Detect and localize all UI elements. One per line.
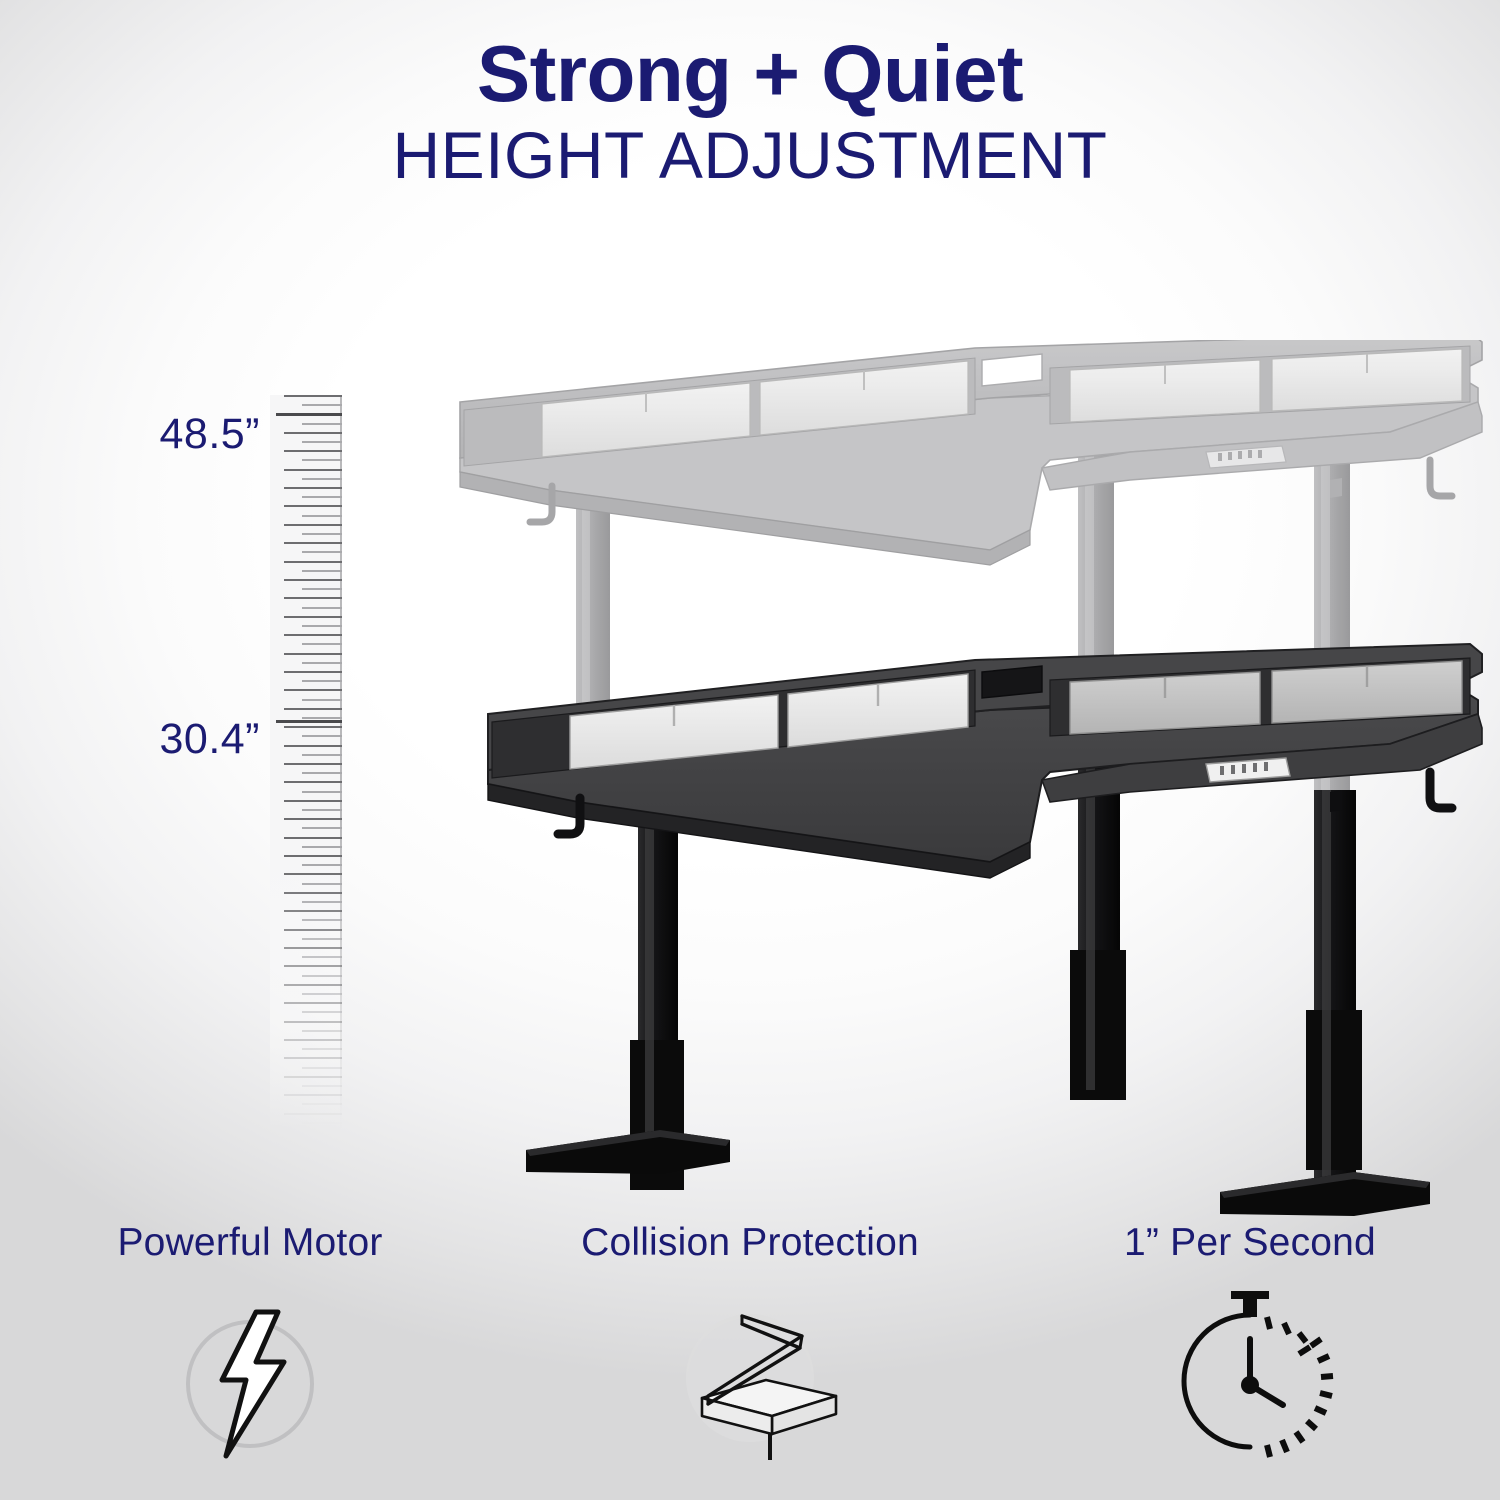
ruler-tick: [302, 570, 342, 572]
page-title: Strong + Quiet: [0, 32, 1500, 115]
feature-speed: 1” Per Second: [1000, 1222, 1500, 1477]
ruler-tick: [302, 515, 342, 517]
ruler-tick: [284, 818, 342, 820]
height-ruler: [270, 395, 342, 1130]
lightning-bolt-icon: [0, 1287, 500, 1477]
measurement-panel: 48.5” 30.4”: [100, 395, 370, 1155]
max-height-label: 48.5”: [100, 410, 260, 459]
ruler-tick: [284, 542, 342, 544]
ruler-tick: [284, 597, 342, 599]
ruler-tick: [302, 699, 342, 701]
ruler-tick: [284, 855, 342, 857]
ruler-tick: [284, 653, 342, 655]
corner-cutout-lowered: [982, 666, 1042, 698]
ruler-tick: [302, 1030, 342, 1032]
desk-lowered-solid: [488, 644, 1482, 1216]
ruler-tick: [302, 441, 342, 443]
ruler-tick: [302, 643, 342, 645]
ruler-tick: [302, 956, 342, 958]
headphone-hook-lowered-right: [1430, 772, 1452, 808]
ruler-tick: [302, 717, 342, 719]
feature-row: Powerful Motor Collision Protection: [0, 1222, 1500, 1477]
ruler-tick: [302, 883, 342, 885]
ruler-tick: [284, 1113, 342, 1115]
ruler-mark-min: [276, 720, 342, 723]
t-foot-base-right: [1220, 1172, 1430, 1216]
ruler-tick: [284, 689, 342, 691]
min-height-label: 30.4”: [100, 715, 260, 764]
ruler-tick: [284, 1094, 342, 1096]
ruler-tick: [302, 1103, 342, 1105]
ruler-tick: [302, 533, 342, 535]
collision-desktop-icon: [500, 1287, 1000, 1477]
t-foot-base-left: [526, 1130, 730, 1174]
feature-label-speed: 1” Per Second: [1000, 1222, 1500, 1265]
ruler-tick: [284, 745, 342, 747]
ruler-tick: [302, 827, 342, 829]
ruler-tick: [284, 837, 342, 839]
ruler-tick: [284, 708, 342, 710]
ruler-tick: [302, 551, 342, 553]
ruler-tick: [284, 800, 342, 802]
feature-powerful-motor: Powerful Motor: [0, 1222, 500, 1477]
ruler-tick: [284, 524, 342, 526]
ruler-tick: [284, 1002, 342, 1004]
ruler-tick: [284, 450, 342, 452]
ruler-tick: [302, 1085, 342, 1087]
ruler-tick: [302, 588, 342, 590]
ruler-tick: [302, 975, 342, 977]
ruler-tick: [302, 772, 342, 774]
page-subtitle: HEIGHT ADJUSTMENT: [0, 119, 1500, 193]
ruler-tick: [284, 561, 342, 563]
ruler-tick: [284, 395, 342, 397]
ruler-tick: [284, 432, 342, 434]
header: Strong + Quiet HEIGHT ADJUSTMENT: [0, 32, 1500, 193]
ruler-tick: [284, 469, 342, 471]
ruler-tick: [284, 1021, 342, 1023]
ruler-tick: [284, 947, 342, 949]
ruler-tick: [284, 781, 342, 783]
ruler-tick: [284, 873, 342, 875]
ruler-tick: [284, 671, 342, 673]
feature-label-collision-protection: Collision Protection: [500, 1222, 1000, 1265]
headphone-hook-raised-right: [1430, 460, 1452, 496]
ruler-tick: [284, 726, 342, 728]
ruler-mark-max: [276, 413, 342, 416]
ruler-tick: [284, 616, 342, 618]
ruler-tick: [302, 1048, 342, 1050]
stopwatch-icon: [1000, 1287, 1500, 1477]
feature-collision-protection: Collision Protection: [500, 1222, 1000, 1477]
ruler-tick: [302, 625, 342, 627]
ruler-tick: [302, 607, 342, 609]
ruler-tick: [302, 901, 342, 903]
ruler-tick: [284, 892, 342, 894]
ruler-tick: [302, 1067, 342, 1069]
ruler-tick: [302, 735, 342, 737]
ruler-tick: [302, 809, 342, 811]
ruler-tick: [302, 459, 342, 461]
ruler-tick: [284, 965, 342, 967]
ruler-tick: [302, 1122, 342, 1124]
ruler-tick: [302, 1011, 342, 1013]
ruler-tick: [302, 993, 342, 995]
ruler-tick: [284, 505, 342, 507]
ruler-tick: [302, 680, 342, 682]
telescoping-column-right: [1306, 790, 1362, 1180]
ruler-tick: [302, 864, 342, 866]
ruler-tick: [284, 1039, 342, 1041]
ruler-tick: [302, 423, 342, 425]
ruler-tick: [302, 754, 342, 756]
ruler-tick: [302, 919, 342, 921]
ruler-tick: [284, 579, 342, 581]
ruler-tick: [302, 404, 342, 406]
ruler-tick: [284, 984, 342, 986]
ruler-tick: [284, 1057, 342, 1059]
ruler-tick: [284, 1076, 342, 1078]
corner-cutout-raised: [982, 354, 1042, 386]
ruler-tick: [302, 478, 342, 480]
ruler-tick: [284, 634, 342, 636]
feature-label-powerful-motor: Powerful Motor: [0, 1222, 500, 1265]
infographic-canvas: Strong + Quiet HEIGHT ADJUSTMENT 48.5” 3…: [0, 0, 1500, 1500]
ruler-tick: [284, 487, 342, 489]
desk-illustration: [430, 340, 1490, 1240]
ruler-tick: [284, 763, 342, 765]
ruler-tick: [302, 662, 342, 664]
ruler-tick: [302, 496, 342, 498]
ruler-tick: [284, 929, 342, 931]
ruler-tick: [302, 791, 342, 793]
ruler-tick: [302, 938, 342, 940]
ruler-tick: [284, 910, 342, 912]
ruler-tick: [302, 846, 342, 848]
